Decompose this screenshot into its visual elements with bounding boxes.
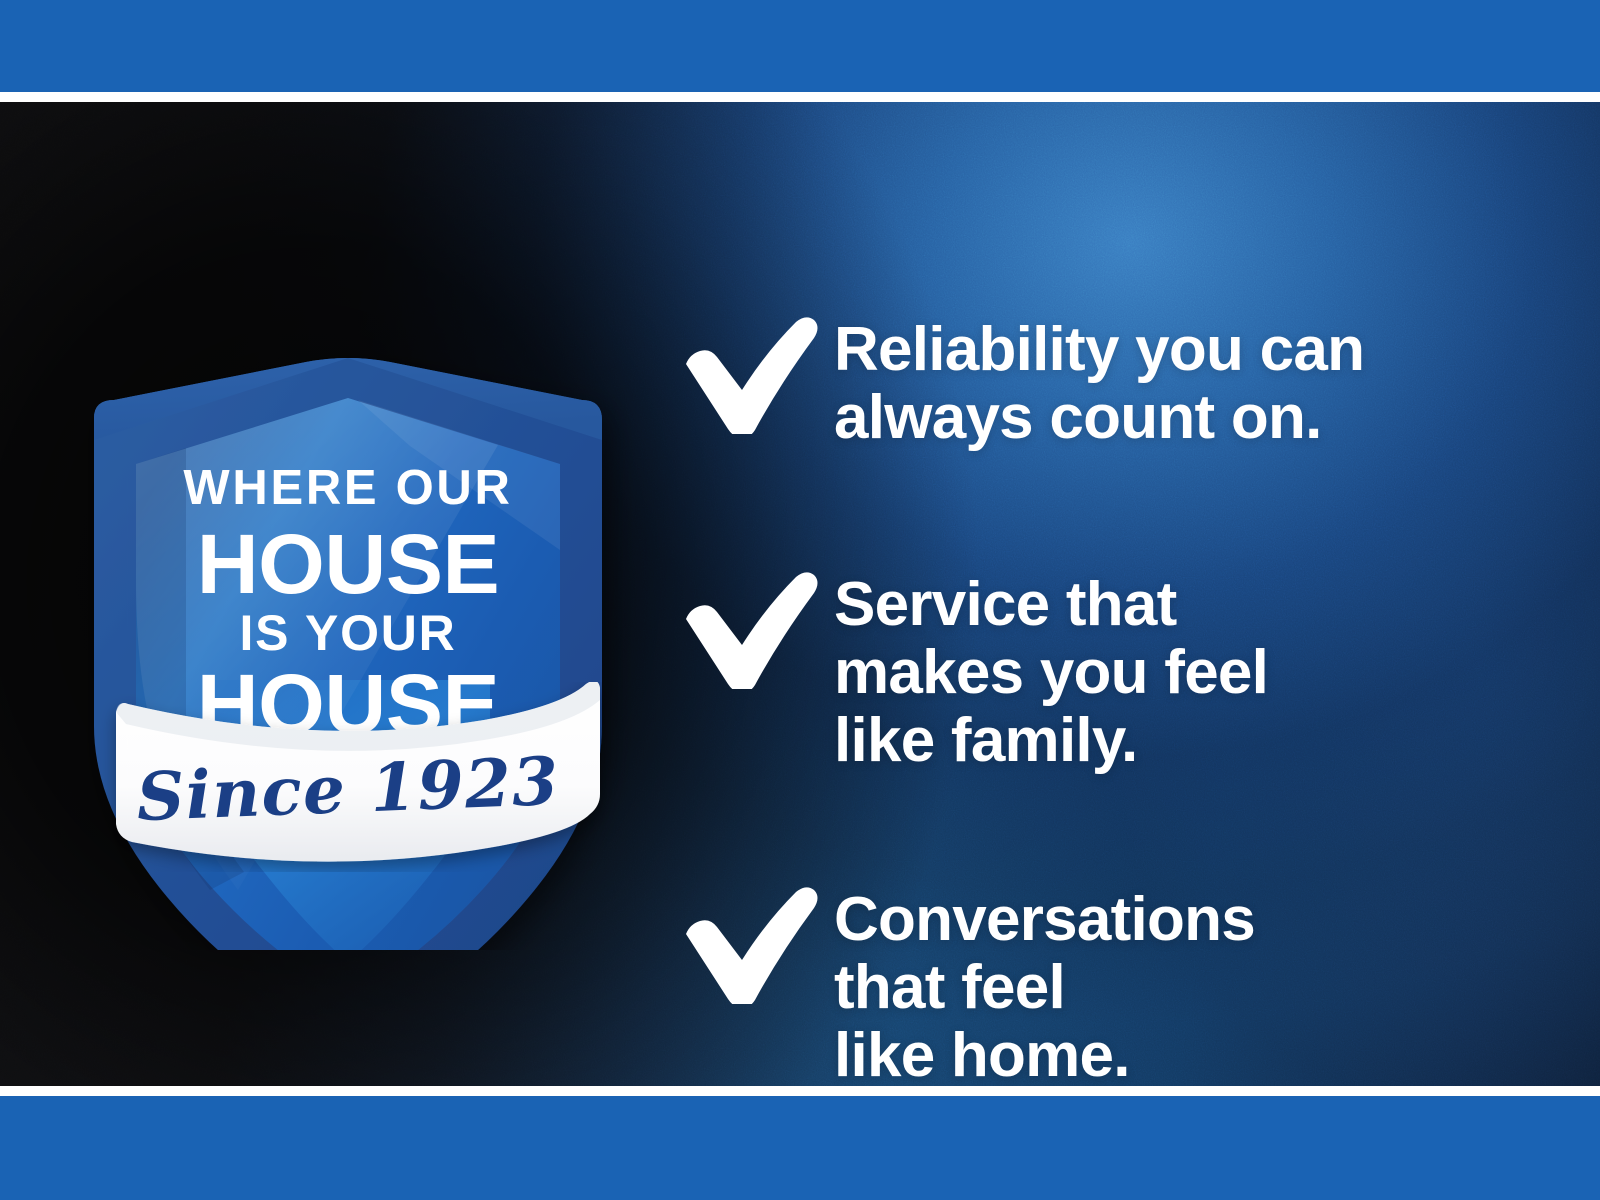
promo-poster: WHERE OUR HOUSE IS YOUR HOUSE [0,0,1600,1200]
logo-line-is-your: IS YOUR [58,608,638,658]
poster-stage: WHERE OUR HOUSE IS YOUR HOUSE [0,102,1600,1086]
checkmark-icon [672,882,822,1004]
benefit-item-service: Service that makes you feel like family. [672,567,1552,776]
benefit-item-conversations: Conversations that feel like home. [672,882,1552,1086]
benefit-text: Conversations that feel like home. [834,882,1552,1086]
logo-line-where-our: WHERE OUR [58,464,638,513]
benefit-item-reliability: Reliability you can always count on. [672,312,1552,452]
logo-line-house-top: HOUSE [52,522,644,606]
top-brand-bar [0,0,1600,92]
checkmark-icon [672,312,822,434]
benefits-list: Reliability you can always count on. Ser… [672,204,1552,1086]
benefit-text: Service that makes you feel like family. [834,567,1552,776]
bottom-bar-divider [0,1086,1600,1096]
bottom-brand-bar [0,1096,1600,1200]
checkmark-icon [672,567,822,689]
shield-logo: WHERE OUR HOUSE IS YOUR HOUSE [58,250,638,950]
top-bar-divider [0,92,1600,102]
benefit-text: Reliability you can always count on. [834,312,1552,452]
logo-since-banner-text: Since 1923 [57,745,639,833]
